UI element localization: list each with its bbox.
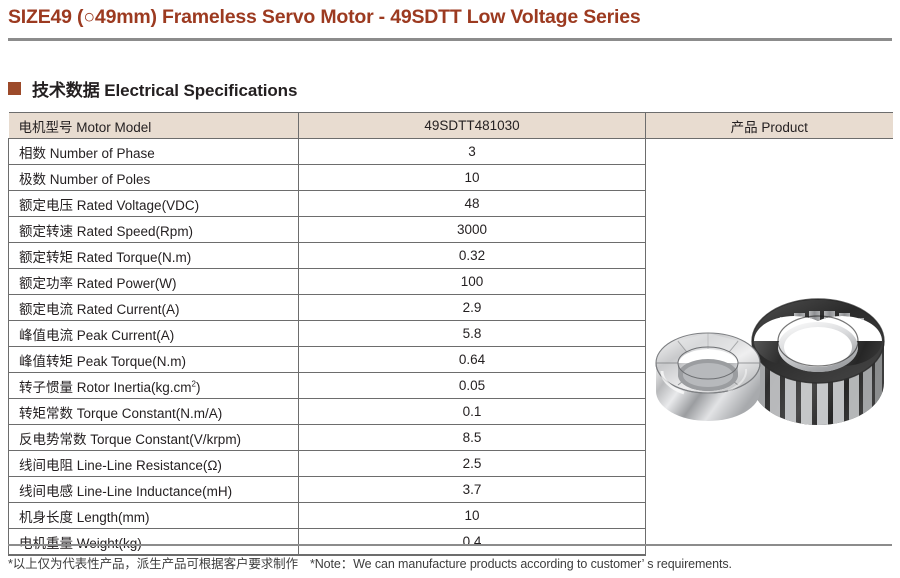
header-model-number: 49SDTT481030 (299, 113, 646, 139)
spec-value: 5.8 (299, 321, 646, 347)
spec-value: 3 (299, 139, 646, 165)
spec-value: 3000 (299, 217, 646, 243)
spec-value: 2.9 (299, 295, 646, 321)
spec-label: 机身长度 Length(mm) (9, 503, 299, 529)
spec-value: 8.5 (299, 425, 646, 451)
square-bullet-icon (8, 82, 21, 95)
electrical-specifications-table: 电机型号 Motor Model 49SDTT481030 产品 Product… (8, 112, 893, 556)
footnote: *以上仅为代表性产品，派生产品可根据客户要求制作*Note：We can man… (8, 553, 732, 572)
spec-value: 0.64 (299, 347, 646, 373)
section-title: 技术数据 Electrical Specifications (32, 76, 297, 101)
spec-value: 48 (299, 191, 646, 217)
spec-label: 额定电压 Rated Voltage(VDC) (9, 191, 299, 217)
product-image-cell (646, 139, 893, 556)
spec-value: 0.1 (299, 399, 646, 425)
spec-value: 10 (299, 503, 646, 529)
spec-label: 电机重量 Weight(kg) (9, 529, 299, 556)
electrical-specifications-table-wrapper: 电机型号 Motor Model 49SDTT481030 产品 Product… (8, 112, 892, 556)
spec-label: 转矩常数 Torque Constant(N.m/A) (9, 399, 299, 425)
spec-value: 0.05 (299, 373, 646, 399)
spec-value: 10 (299, 165, 646, 191)
table-row: 相数 Number of Phase3 (9, 139, 893, 165)
spec-label: 转子惯量 Rotor Inertia(kg.cm2) (9, 373, 299, 399)
table-body: 相数 Number of Phase3极数 Number of Poles10额… (9, 139, 893, 556)
spec-label: 线间电阻 Line-Line Resistance(Ω) (9, 451, 299, 477)
table-bottom-divider (8, 544, 892, 546)
spec-label: 额定电流 Rated Current(A) (9, 295, 299, 321)
spec-value: 0.4 (299, 529, 646, 556)
spec-label: 额定功率 Rated Power(W) (9, 269, 299, 295)
page-title: SIZE49 (○49mm) Frameless Servo Motor - 4… (8, 6, 641, 29)
title-divider (8, 38, 892, 41)
spec-label: 线间电感 Line-Line Inductance(mH) (9, 477, 299, 503)
footnote-english: *Note：We can manufacture products accord… (310, 557, 732, 571)
header-product: 产品 Product (646, 113, 893, 139)
spec-value: 0.32 (299, 243, 646, 269)
section-header: 技术数据 Electrical Specifications (8, 76, 297, 101)
footnote-chinese: *以上仅为代表性产品，派生产品可根据客户要求制作 (8, 557, 298, 571)
spec-label: 额定转矩 Rated Torque(N.m) (9, 243, 299, 269)
spec-value: 3.7 (299, 477, 646, 503)
spec-label: 相数 Number of Phase (9, 139, 299, 165)
header-motor-model: 电机型号 Motor Model (9, 113, 299, 139)
spec-value: 2.5 (299, 451, 646, 477)
table-header-row: 电机型号 Motor Model 49SDTT481030 产品 Product (9, 113, 893, 139)
spec-label: 额定转速 Rated Speed(Rpm) (9, 217, 299, 243)
spec-label: 峰值电流 Peak Current(A) (9, 321, 299, 347)
spec-label: 峰值转矩 Peak Torque(N.m) (9, 347, 299, 373)
spec-label: 极数 Number of Poles (9, 165, 299, 191)
spec-label: 反电势常数 Torque Constant(V/krpm) (9, 425, 299, 451)
spec-value: 100 (299, 269, 646, 295)
table-header: 电机型号 Motor Model 49SDTT481030 产品 Product (9, 113, 893, 139)
